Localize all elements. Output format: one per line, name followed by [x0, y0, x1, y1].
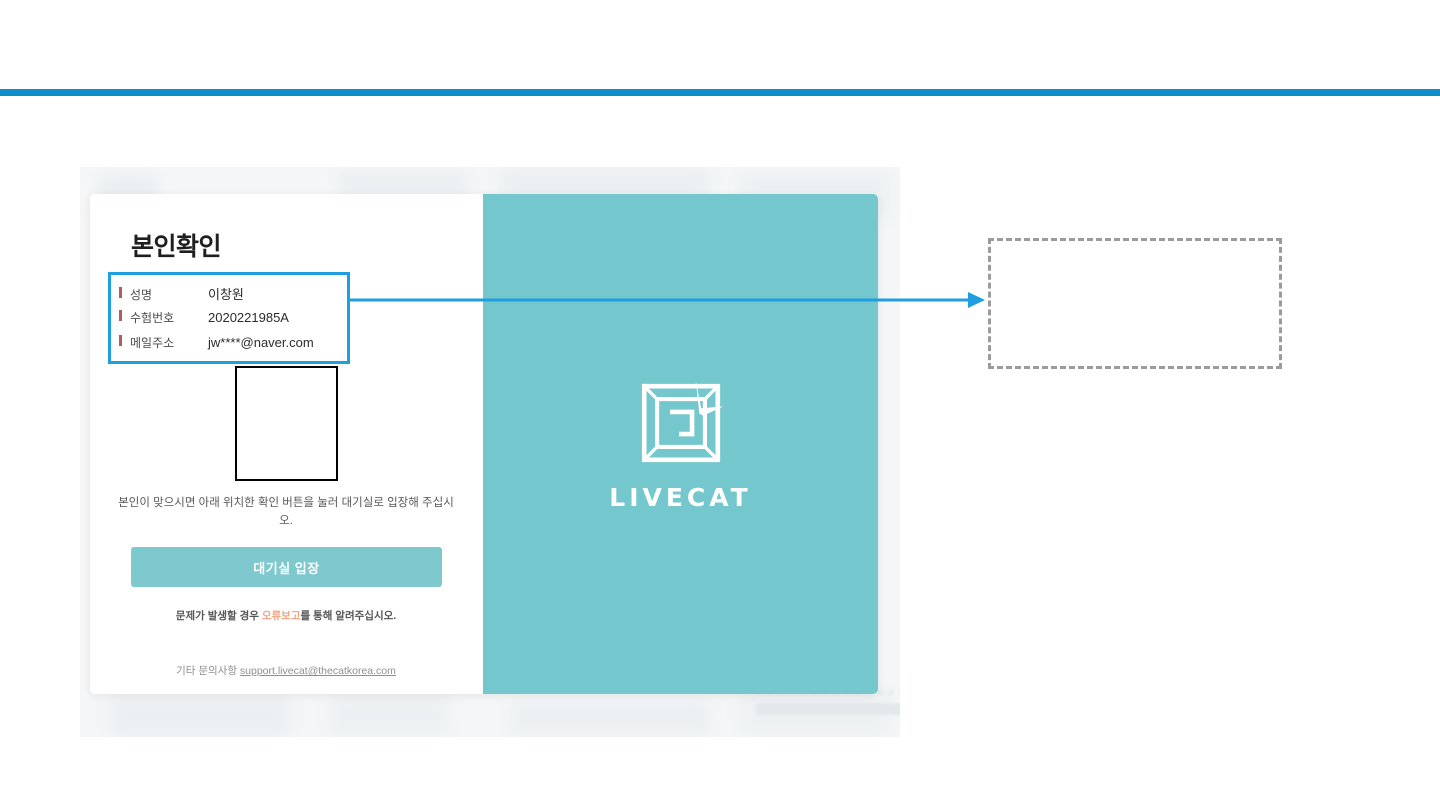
error-notice-prefix: 문제가 발생할 경우 — [176, 610, 262, 622]
background-blur-shape — [756, 703, 900, 715]
background-blur-shape — [110, 695, 290, 737]
error-report-link[interactable]: 오류보고 — [262, 610, 301, 622]
instruction-text: 본인이 맞으시면 아래 위치한 확인 버튼을 눌러 대기실로 입장해 주십시오. — [116, 494, 456, 530]
info-row-exam-number: 수험번호 2020221985A — [119, 309, 347, 334]
info-label-exam-number: 수험번호 — [130, 309, 208, 326]
error-notice: 문제가 발생할 경우 오류보고를 통해 알려주십시오. — [116, 608, 456, 623]
info-value-email: jw****@naver.com — [208, 335, 314, 350]
error-notice-suffix: 를 통해 알려주십시오. — [300, 610, 396, 622]
page-title: 본인확인 — [131, 227, 221, 263]
info-row-name: 성명 이창원 — [119, 284, 347, 309]
contact-notice-prefix: 기타 문의사항 — [176, 665, 240, 677]
bullet-tick-icon — [119, 310, 122, 321]
info-row-email: 메일주소 jw****@naver.com — [119, 334, 347, 359]
livecat-logo-icon — [635, 377, 727, 469]
livecat-wordmark: LIVECAT — [609, 483, 751, 512]
background-blur-shape — [330, 691, 450, 737]
info-label-name: 성명 — [130, 286, 208, 303]
bullet-tick-icon — [119, 287, 122, 298]
webcam-photo-placeholder — [235, 366, 338, 481]
contact-notice: 기타 문의사항 support.livecat@thecatkorea.com — [116, 663, 456, 678]
brand-panel: LIVECAT — [483, 194, 878, 694]
enter-waiting-room-button[interactable]: 대기실 입장 — [131, 547, 442, 587]
identity-verification-card: 본인확인 성명 이창원 수험번호 2020221985A 메일주소 jw****… — [90, 194, 878, 694]
user-info-highlight-box: 성명 이창원 수험번호 2020221985A 메일주소 jw****@nave… — [108, 272, 350, 364]
info-value-name: 이창원 — [208, 284, 244, 303]
background-blur-shape — [510, 699, 710, 737]
top-accent-rule — [0, 89, 1440, 96]
annotation-arrow-icon — [350, 288, 985, 312]
info-value-exam-number: 2020221985A — [208, 310, 289, 325]
annotation-dropzone-box — [988, 238, 1282, 369]
info-label-email: 메일주소 — [130, 334, 208, 351]
card-left-panel: 본인확인 성명 이창원 수험번호 2020221985A 메일주소 jw****… — [90, 194, 483, 694]
contact-email-link[interactable]: support.livecat@thecatkorea.com — [240, 665, 396, 677]
bullet-tick-icon — [119, 335, 122, 346]
